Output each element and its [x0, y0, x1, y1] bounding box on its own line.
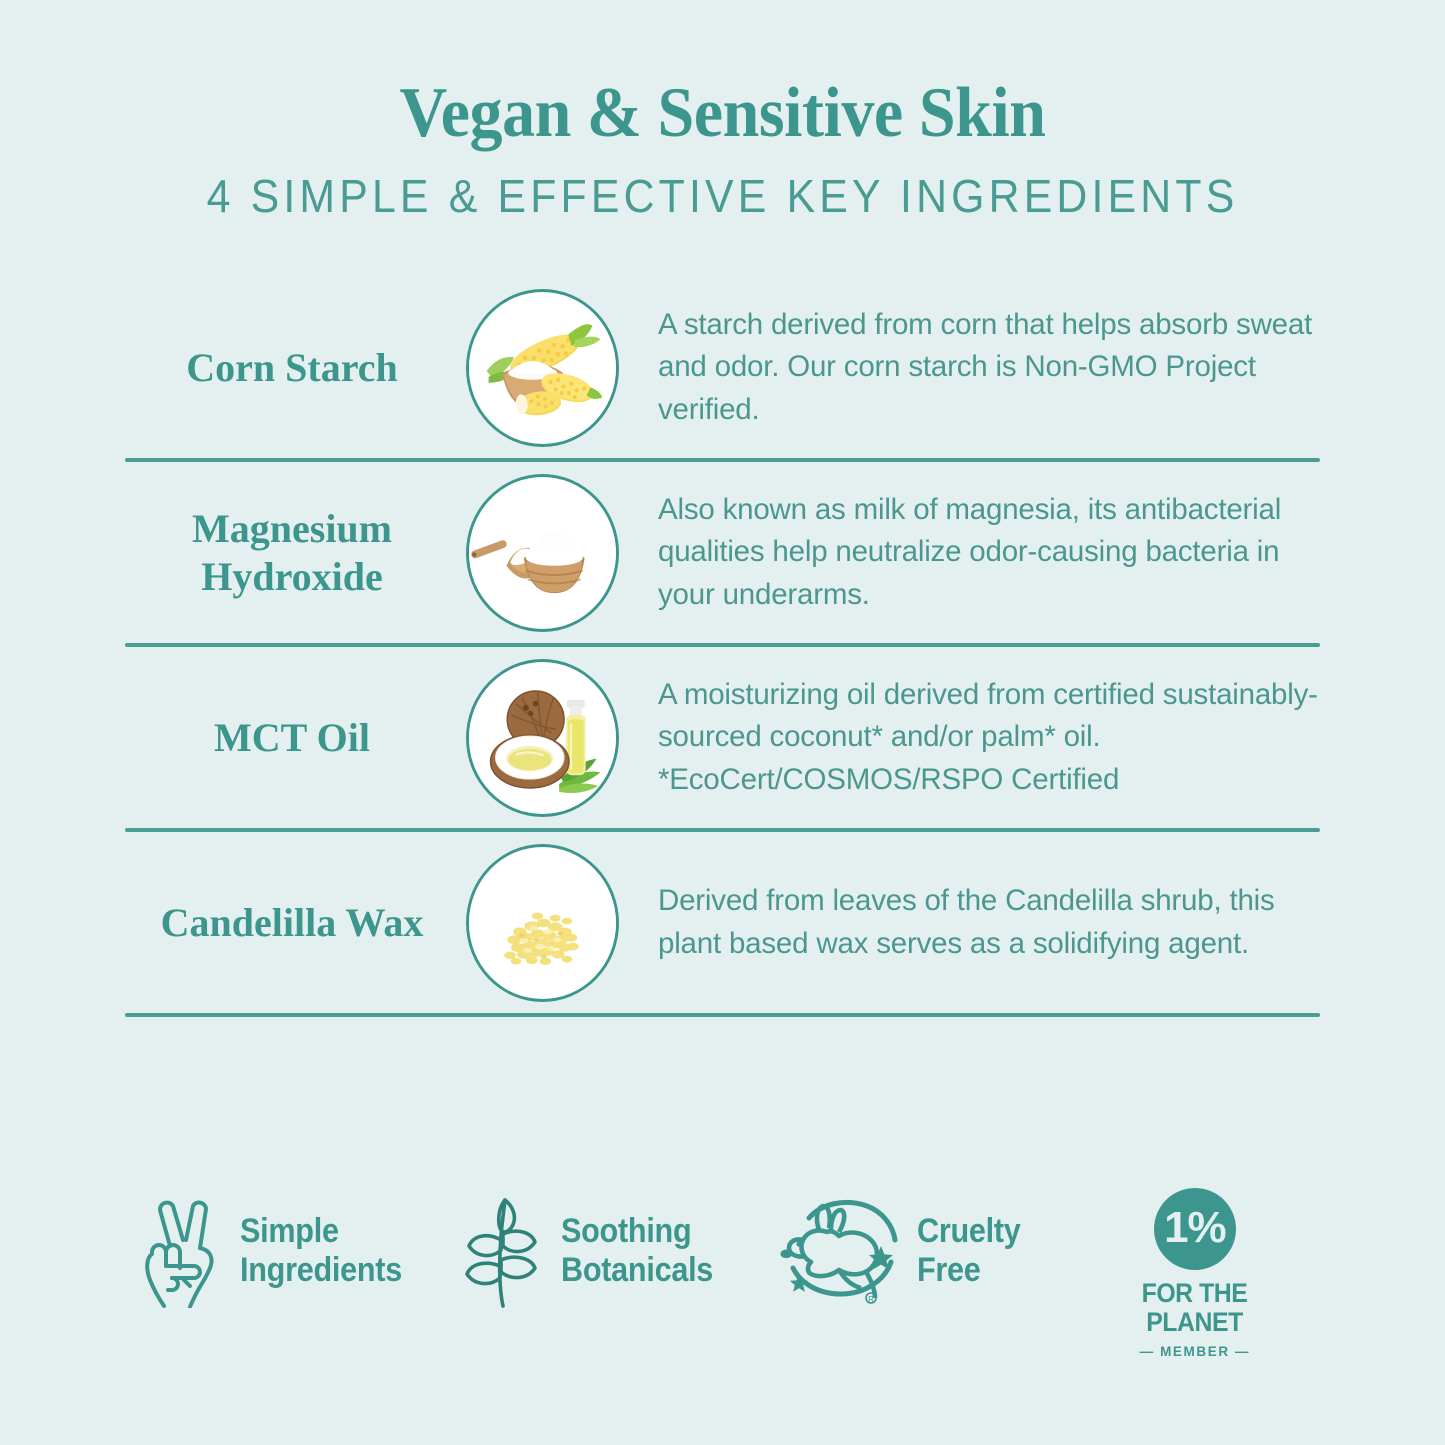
ingredient-description: Derived from leaves of the Candelilla sh…: [620, 880, 1320, 965]
ingredient-name: Corn Starch: [125, 344, 465, 391]
corn-starch-photo: [466, 289, 619, 447]
wax-pastilles-photo: [466, 844, 619, 1002]
ingredient-description: A starch derived from corn that helps ab…: [620, 304, 1320, 431]
ingredient-thumb: [465, 290, 620, 445]
ingredient-name: Magnesium Hydroxide: [125, 505, 465, 599]
svg-text:R: R: [868, 1295, 874, 1304]
ingredient-name: MCT Oil: [125, 714, 465, 761]
planet-badge-wrap: 1% FOR THE PLANET — MEMBER —: [1137, 1188, 1252, 1359]
badge-soothing-botanicals: Soothing Botanicals: [438, 1188, 746, 1313]
ingredient-thumb: [465, 845, 620, 1000]
planet-member-text: — MEMBER —: [1140, 1344, 1251, 1359]
leaf-branch-icon: [455, 1188, 551, 1313]
peace-hand-icon: [138, 1188, 230, 1313]
ingredient-thumb: [465, 475, 620, 630]
page-title: Vegan & Sensitive Skin: [51, 78, 1395, 149]
one-percent-circle-icon: 1%: [1154, 1188, 1236, 1270]
badge-simple-ingredients: Simple Ingredients: [120, 1188, 438, 1313]
coconut-oil-photo: [466, 659, 619, 817]
ingredient-row-magnesium-hydroxide: Magnesium Hydroxide: [125, 462, 1320, 643]
infographic-page: Vegan & Sensitive Skin 4 SIMPLE & EFFECT…: [0, 0, 1445, 1445]
page-subtitle: 4 SIMPLE & EFFECTIVE KEY INGREDIENTS: [51, 173, 1395, 219]
one-percent-text: 1%: [1164, 1206, 1226, 1250]
planet-line-1: FOR THE: [1142, 1279, 1248, 1308]
badge-one-percent-for-the-planet: 1% FOR THE PLANET — MEMBER —: [1065, 1188, 1325, 1359]
badge-label: Simple Ingredients: [240, 1212, 402, 1290]
ingredient-name: Candelilla Wax: [125, 899, 465, 946]
badge-label: Soothing Botanicals: [561, 1212, 713, 1290]
ingredient-description: A moisturizing oil derived from certifie…: [620, 674, 1320, 801]
badge-label: Cruelty Free: [917, 1212, 1021, 1290]
ingredient-row-mct-oil: MCT Oil: [125, 647, 1320, 828]
ingredient-row-corn-starch: Corn Starch: [125, 277, 1320, 458]
badge-cruelty-free: R Cruelty Free: [747, 1188, 1065, 1313]
ingredient-row-candelilla-wax: Candelilla Wax: [125, 832, 1320, 1013]
ingredient-list: Corn Starch: [0, 277, 1445, 1017]
leaping-bunny-icon: R: [779, 1188, 907, 1313]
certification-badges: Simple Ingredients Soothing Botanicals: [0, 1188, 1445, 1359]
row-divider-4: [125, 1013, 1320, 1017]
planet-line-2: PLANET: [1147, 1308, 1244, 1337]
header: Vegan & Sensitive Skin 4 SIMPLE & EFFECT…: [0, 0, 1445, 219]
ingredient-description: Also known as milk of magnesia, its anti…: [620, 489, 1320, 616]
ingredient-thumb: [465, 660, 620, 815]
magnesium-powder-photo: [466, 474, 619, 632]
